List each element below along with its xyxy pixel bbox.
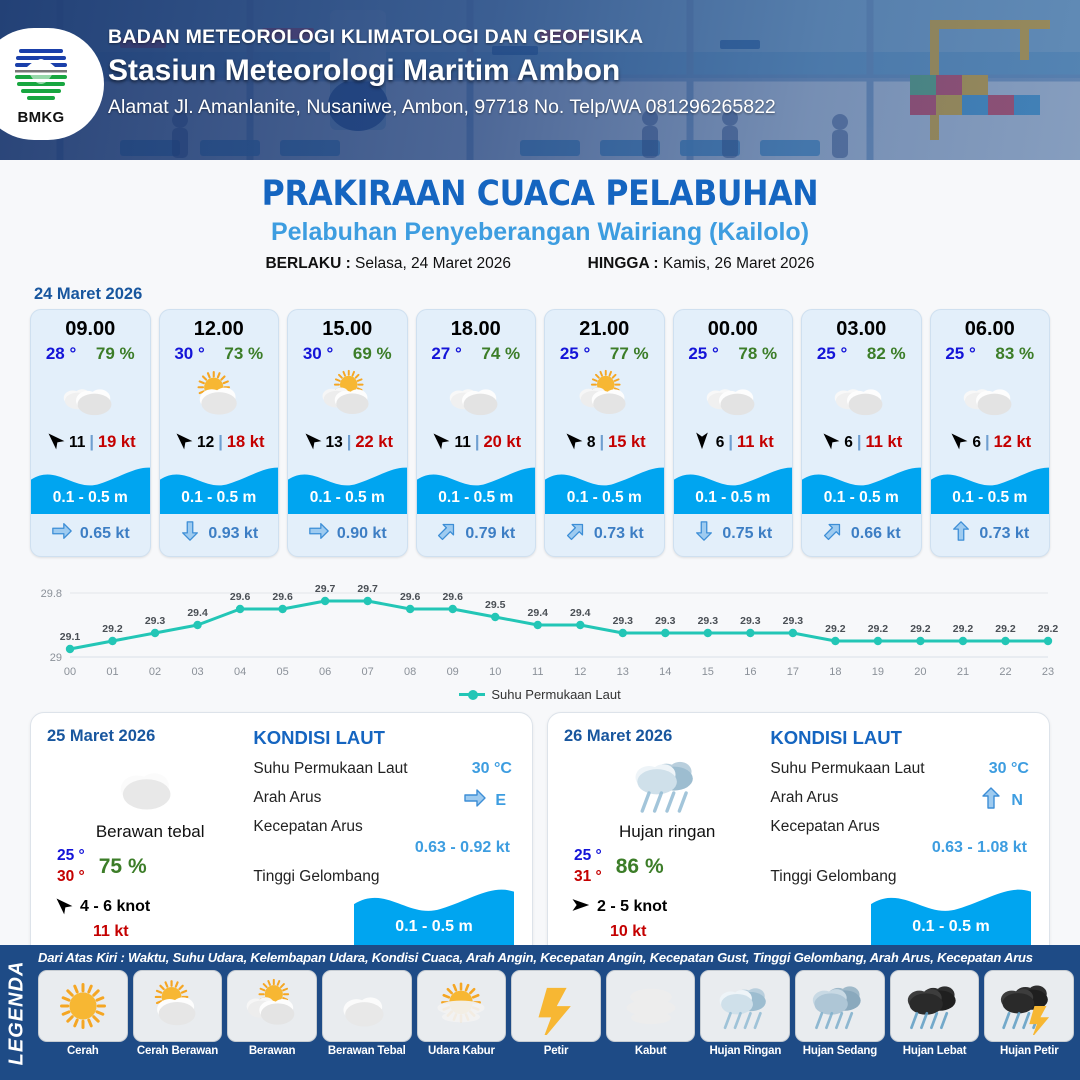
wave-band: 0.1 - 0.5 m <box>31 462 150 514</box>
current-direction-arrow-icon <box>822 520 844 547</box>
day-humidity: 86 % <box>616 855 664 879</box>
card-temperature: 27 ° <box>431 344 461 364</box>
svg-text:18: 18 <box>829 666 841 678</box>
legend-icon-hujan-lebat <box>890 970 980 1042</box>
legend-side-label: LEGENDA <box>0 945 34 1080</box>
svg-text:29.3: 29.3 <box>783 615 804 627</box>
day-humidity: 75 % <box>99 855 147 879</box>
wave-band: 0.1 - 0.5 m <box>545 462 664 514</box>
legend-item: Cerah Berawan <box>133 970 223 1057</box>
legend-item-label: Hujan Lebat <box>890 1045 980 1057</box>
card-weather-icon <box>674 367 793 425</box>
day-wind-arrow-icon <box>570 895 590 920</box>
wind-separator: | <box>599 433 604 452</box>
current-direction-value: E <box>495 792 506 810</box>
svg-text:08: 08 <box>404 666 416 678</box>
legend-item-label: Berawan Tebal <box>322 1045 412 1057</box>
legend-item: Udara Kabur <box>417 970 507 1057</box>
current-speed: 0.66 kt <box>851 525 901 543</box>
svg-text:09: 09 <box>447 666 459 678</box>
wind-speed: 6 <box>716 434 725 452</box>
card-time: 18.00 <box>417 310 536 344</box>
legend-item: Hujan Ringan <box>700 970 790 1057</box>
validity-row: BERLAKU : Selasa, 24 Maret 2026 HINGGA :… <box>0 255 1080 273</box>
bmkg-logo-text: BMKG <box>5 109 77 126</box>
svg-text:01: 01 <box>106 666 118 678</box>
svg-text:29.1: 29.1 <box>60 631 81 643</box>
day-gust: 11 kt <box>47 923 253 941</box>
page-header: BMKG BADAN METEOROLOGI KLIMATOLOGI DAN G… <box>0 0 1080 160</box>
legend-item-label: Berawan <box>227 1045 317 1057</box>
card-humidity: 77 % <box>610 344 649 364</box>
chart-legend: Suhu Permukaan Laut <box>0 687 1080 702</box>
card-humidity: 79 % <box>96 344 135 364</box>
card-weather-icon <box>545 367 664 425</box>
wave-band: 0.1 - 0.5 m <box>931 462 1050 514</box>
svg-text:00: 00 <box>64 666 76 678</box>
svg-text:29.4: 29.4 <box>570 607 591 619</box>
day-temp-min: 25 ° <box>57 846 85 867</box>
svg-text:29.6: 29.6 <box>442 591 463 603</box>
legend-icon-berawan-sun <box>227 970 317 1042</box>
legend-item: Berawan <box>227 970 317 1057</box>
current-speed-label: Kecepatan Arus <box>770 818 879 835</box>
current-speed: 0.79 kt <box>465 525 515 543</box>
wind-direction-arrow-icon <box>302 430 322 455</box>
day-wind-range: 4 - 6 knot <box>80 898 150 916</box>
legend-icon-hujan-ringan <box>700 970 790 1042</box>
svg-text:29.3: 29.3 <box>698 615 719 627</box>
current-speed-value: 0.63 - 0.92 kt <box>253 839 516 857</box>
svg-text:29.3: 29.3 <box>145 615 166 627</box>
forecast-card: 12.00 30 ° 73 % 12 | 18 kt 0.1 - 0.5 m 0… <box>159 309 280 557</box>
current-direction-arrow-icon <box>179 520 201 547</box>
wind-speed: 11 <box>69 434 85 452</box>
wind-direction-arrow-icon <box>173 430 193 455</box>
legend-item: Cerah <box>38 970 128 1057</box>
day-wave-height: 0.1 - 0.5 m <box>871 918 1031 936</box>
svg-text:29.3: 29.3 <box>613 615 634 627</box>
current-direction-arrow-icon <box>51 520 73 547</box>
svg-text:29.2: 29.2 <box>825 623 846 635</box>
valid-from-label: BERLAKU : <box>265 255 350 272</box>
card-humidity: 82 % <box>867 344 906 364</box>
current-speed: 0.93 kt <box>208 525 258 543</box>
wind-separator: | <box>218 433 223 452</box>
current-direction-value: N <box>1011 792 1023 810</box>
forecast-card: 09.00 28 ° 79 % 11 | 19 kt 0.1 - 0.5 m 0… <box>30 309 151 557</box>
sea-conditions-title: KONDISI LAUT <box>253 727 516 749</box>
svg-text:02: 02 <box>149 666 161 678</box>
day-wave-band: 0.1 - 0.5 m <box>871 883 1031 945</box>
day-gust: 10 kt <box>564 923 770 941</box>
svg-text:29: 29 <box>50 652 62 664</box>
gust-speed: 18 kt <box>227 433 265 452</box>
day-wind-arrow-icon <box>53 895 73 920</box>
current-direction-arrow-icon <box>436 520 458 547</box>
svg-text:29.5: 29.5 <box>485 599 506 611</box>
wave-height: 0.1 - 0.5 m <box>31 489 150 507</box>
svg-text:23: 23 <box>1042 666 1054 678</box>
day-condition: Hujan ringan <box>564 822 770 842</box>
svg-text:03: 03 <box>191 666 203 678</box>
day-date: 26 Maret 2026 <box>564 727 770 746</box>
card-weather-icon <box>160 367 279 425</box>
legend-item: Hujan Lebat <box>890 970 980 1057</box>
legend-item-label: Hujan Sedang <box>795 1045 885 1057</box>
wind-separator: | <box>475 433 480 452</box>
wind-separator: | <box>857 433 862 452</box>
forecast-card: 00.00 25 ° 78 % 6 | 11 kt 0.1 - 0.5 m 0.… <box>673 309 794 557</box>
svg-text:05: 05 <box>276 666 288 678</box>
card-humidity: 74 % <box>481 344 520 364</box>
wind-speed: 8 <box>587 434 596 452</box>
page-subtitle: Pelabuhan Penyeberangan Wairiang (Kailol… <box>0 218 1080 247</box>
current-speed-value: 0.63 - 1.08 kt <box>770 839 1033 857</box>
wind-speed: 6 <box>844 434 853 452</box>
gust-speed: 22 kt <box>355 433 393 452</box>
legend-icon-udara-kabur <box>417 970 507 1042</box>
day-date: 25 Maret 2026 <box>47 727 253 746</box>
legend-note: Dari Atas Kiri : Waktu, Suhu Udara, Kele… <box>38 950 1074 965</box>
legend-icon-kabut <box>606 970 696 1042</box>
svg-text:06: 06 <box>319 666 331 678</box>
day-wind-range: 2 - 5 knot <box>597 898 667 916</box>
wave-height: 0.1 - 0.5 m <box>288 489 407 507</box>
wind-direction-arrow-icon <box>563 430 583 455</box>
legend-item-label: Cerah <box>38 1045 128 1057</box>
svg-text:17: 17 <box>787 666 799 678</box>
current-direction-arrow-icon <box>565 520 587 547</box>
valid-to-label: HINGGA : <box>588 255 659 272</box>
svg-text:29.6: 29.6 <box>400 591 421 603</box>
wind-direction-arrow-icon <box>948 430 968 455</box>
legend-item: Petir <box>511 970 601 1057</box>
wind-separator: | <box>89 433 94 452</box>
card-time: 09.00 <box>31 310 150 344</box>
card-temperature: 25 ° <box>945 344 975 364</box>
gust-speed: 11 kt <box>866 433 903 452</box>
current-speed: 0.65 kt <box>80 525 130 543</box>
day-weather-icon <box>564 748 770 820</box>
sst-value: 30 °C <box>989 760 1029 778</box>
wind-speed: 11 <box>454 434 470 452</box>
day-weather-icon <box>47 748 253 820</box>
svg-text:12: 12 <box>574 666 586 678</box>
legend-item-label: Kabut <box>606 1045 696 1057</box>
svg-text:29.2: 29.2 <box>953 623 974 635</box>
legend-item: Kabut <box>606 970 696 1057</box>
forecast-card: 06.00 25 ° 83 % 6 | 12 kt 0.1 - 0.5 m 0.… <box>930 309 1051 557</box>
legend-icon-petir <box>511 970 601 1042</box>
wave-band: 0.1 - 0.5 m <box>160 462 279 514</box>
wave-height: 0.1 - 0.5 m <box>674 489 793 507</box>
forecast-card: 03.00 25 ° 82 % 6 | 11 kt 0.1 - 0.5 m 0.… <box>801 309 922 557</box>
daily-summary-panel: 25 Maret 2026 Berawan tebal 25 ° 30 ° 75… <box>30 712 533 962</box>
legend-item-label: Udara Kabur <box>417 1045 507 1057</box>
svg-text:29.6: 29.6 <box>272 591 293 603</box>
legend-item-label: Petir <box>511 1045 601 1057</box>
current-speed: 0.73 kt <box>594 525 644 543</box>
wave-band: 0.1 - 0.5 m <box>674 462 793 514</box>
gust-speed: 20 kt <box>483 433 521 452</box>
daily-summary-panel: 26 Maret 2026 Hujan ringan 25 ° 31 ° 86 … <box>547 712 1050 962</box>
day-condition: Berawan tebal <box>47 822 253 842</box>
svg-text:29.7: 29.7 <box>357 583 378 595</box>
bmkg-emblem-icon <box>9 40 73 104</box>
card-weather-icon <box>802 367 921 425</box>
svg-text:29.2: 29.2 <box>995 623 1016 635</box>
wind-speed: 6 <box>972 434 981 452</box>
svg-text:11: 11 <box>532 666 543 678</box>
daily-summary-row: 25 Maret 2026 Berawan tebal 25 ° 30 ° 75… <box>0 702 1080 962</box>
svg-text:29.3: 29.3 <box>655 615 676 627</box>
current-direction-arrow-icon <box>693 520 715 547</box>
gust-speed: 12 kt <box>994 433 1032 452</box>
legend-item: Hujan Petir <box>984 970 1074 1057</box>
wind-direction-arrow-icon <box>45 430 65 455</box>
svg-text:29.2: 29.2 <box>102 623 123 635</box>
wave-height: 0.1 - 0.5 m <box>931 489 1050 507</box>
wind-direction-arrow-icon <box>820 430 840 455</box>
wind-separator: | <box>985 433 990 452</box>
svg-text:29.2: 29.2 <box>1038 623 1058 635</box>
wind-separator: | <box>728 433 733 452</box>
card-temperature: 25 ° <box>560 344 590 364</box>
card-time: 21.00 <box>545 310 664 344</box>
forecast-card: 15.00 30 ° 69 % 13 | 22 kt 0.1 - 0.5 m 0… <box>287 309 408 557</box>
current-direction-arrow-icon <box>308 520 330 547</box>
svg-text:10: 10 <box>489 666 501 678</box>
gust-speed: 11 kt <box>737 433 774 452</box>
card-temperature: 30 ° <box>174 344 204 364</box>
forecast-card: 18.00 27 ° 74 % 11 | 20 kt 0.1 - 0.5 m 0… <box>416 309 537 557</box>
card-humidity: 73 % <box>224 344 263 364</box>
legend-icon-cerah-berawan <box>133 970 223 1042</box>
wind-separator: | <box>347 433 352 452</box>
day-wave-band: 0.1 - 0.5 m <box>354 883 514 945</box>
gust-speed: 19 kt <box>98 433 136 452</box>
current-direction-arrow-icon <box>950 520 972 547</box>
card-temperature: 30 ° <box>303 344 333 364</box>
day-temp-min: 25 ° <box>574 846 602 867</box>
wave-height: 0.1 - 0.5 m <box>545 489 664 507</box>
sst-value: 30 °C <box>472 760 512 778</box>
legend-icon-hujan-petir <box>984 970 1074 1042</box>
current-direction-label: Arah Arus <box>253 789 321 806</box>
wind-direction-arrow-icon <box>430 430 450 455</box>
sst-label: Suhu Permukaan Laut <box>253 760 407 777</box>
svg-text:13: 13 <box>617 666 629 678</box>
card-humidity: 83 % <box>995 344 1034 364</box>
wave-height: 0.1 - 0.5 m <box>802 489 921 507</box>
card-weather-icon <box>931 367 1050 425</box>
legend-item-label: Hujan Ringan <box>700 1045 790 1057</box>
card-time: 00.00 <box>674 310 793 344</box>
svg-text:22: 22 <box>999 666 1011 678</box>
sst-label: Suhu Permukaan Laut <box>770 760 924 777</box>
current-speed: 0.90 kt <box>337 525 387 543</box>
current-speed-label: Kecepatan Arus <box>253 818 362 835</box>
card-time: 15.00 <box>288 310 407 344</box>
svg-text:07: 07 <box>362 666 374 678</box>
wind-speed: 13 <box>326 434 343 452</box>
forecast-card: 21.00 25 ° 77 % 8 | 15 kt 0.1 - 0.5 m 0.… <box>544 309 665 557</box>
day-wave-height: 0.1 - 0.5 m <box>354 918 514 936</box>
station-address: Alamat Jl. Amanlanite, Nusaniwe, Ambon, … <box>108 96 776 119</box>
wave-band: 0.1 - 0.5 m <box>288 462 407 514</box>
legend-line-marker <box>459 693 485 696</box>
day-current-arrow-icon <box>463 786 487 815</box>
svg-text:14: 14 <box>659 666 671 678</box>
card-humidity: 78 % <box>738 344 777 364</box>
valid-from-value: Selasa, 24 Maret 2026 <box>355 255 511 272</box>
svg-text:29.6: 29.6 <box>230 591 251 603</box>
card-time: 03.00 <box>802 310 921 344</box>
svg-text:29.4: 29.4 <box>187 607 208 619</box>
svg-text:19: 19 <box>872 666 884 678</box>
legend-item: Berawan Tebal <box>322 970 412 1057</box>
svg-text:29.7: 29.7 <box>315 583 336 595</box>
card-time: 12.00 <box>160 310 279 344</box>
svg-text:04: 04 <box>234 666 246 678</box>
title-block: PRAKIRAAN CUACA PELABUHAN Pelabuhan Peny… <box>0 160 1080 273</box>
card-weather-icon <box>31 367 150 425</box>
legend-strip: LEGENDA Dari Atas Kiri : Waktu, Suhu Uda… <box>0 945 1080 1080</box>
card-temperature: 28 ° <box>46 344 76 364</box>
svg-text:16: 16 <box>744 666 756 678</box>
legend-label: Suhu Permukaan Laut <box>491 687 620 702</box>
day-temp-max: 31 ° <box>574 867 602 888</box>
sea-conditions-title: KONDISI LAUT <box>770 727 1033 749</box>
card-weather-icon <box>288 367 407 425</box>
card-temperature: 25 ° <box>688 344 718 364</box>
day-current-arrow-icon <box>979 786 1003 815</box>
current-speed: 0.73 kt <box>979 525 1029 543</box>
wave-band: 0.1 - 0.5 m <box>802 462 921 514</box>
legend-items: Cerah Cerah Berawan Berawan Berawan Teba… <box>38 970 1074 1057</box>
agency-name: BADAN METEOROLOGI KLIMATOLOGI DAN GEOFIS… <box>108 26 776 49</box>
forecast-date-label: 24 Maret 2026 <box>34 285 1080 304</box>
card-weather-icon <box>417 367 536 425</box>
legend-item-label: Hujan Petir <box>984 1045 1074 1057</box>
wave-band: 0.1 - 0.5 m <box>417 462 536 514</box>
svg-text:29.2: 29.2 <box>868 623 889 635</box>
svg-text:29.4: 29.4 <box>528 607 549 619</box>
day-temp-max: 30 ° <box>57 867 85 888</box>
svg-text:21: 21 <box>957 666 969 678</box>
svg-text:29.8: 29.8 <box>41 588 62 600</box>
legend-item-label: Cerah Berawan <box>133 1045 223 1057</box>
svg-text:15: 15 <box>702 666 714 678</box>
current-direction-label: Arah Arus <box>770 789 838 806</box>
legend-item: Hujan Sedang <box>795 970 885 1057</box>
svg-text:29.3: 29.3 <box>740 615 761 627</box>
legend-icon-berawan-tebal <box>322 970 412 1042</box>
wave-height: 0.1 - 0.5 m <box>417 489 536 507</box>
sst-chart: 29.82929.10029.20129.30229.40329.60429.6… <box>22 571 1058 683</box>
current-speed: 0.75 kt <box>722 525 772 543</box>
station-name: Stasiun Meteorologi Maritim Ambon <box>108 54 776 88</box>
forecast-card-row: 09.00 28 ° 79 % 11 | 19 kt 0.1 - 0.5 m 0… <box>0 309 1080 557</box>
page-title: PRAKIRAAN CUACA PELABUHAN <box>0 174 1080 214</box>
card-temperature: 25 ° <box>817 344 847 364</box>
wind-speed: 12 <box>197 434 214 452</box>
svg-text:29.2: 29.2 <box>910 623 931 635</box>
gust-speed: 15 kt <box>608 433 646 452</box>
legend-icon-hujan-sedang <box>795 970 885 1042</box>
card-humidity: 69 % <box>353 344 392 364</box>
wind-direction-arrow-icon <box>692 430 712 455</box>
wave-height: 0.1 - 0.5 m <box>160 489 279 507</box>
legend-icon-cerah <box>38 970 128 1042</box>
svg-text:20: 20 <box>914 666 926 678</box>
card-time: 06.00 <box>931 310 1050 344</box>
valid-to-value: Kamis, 26 Maret 2026 <box>663 255 815 272</box>
